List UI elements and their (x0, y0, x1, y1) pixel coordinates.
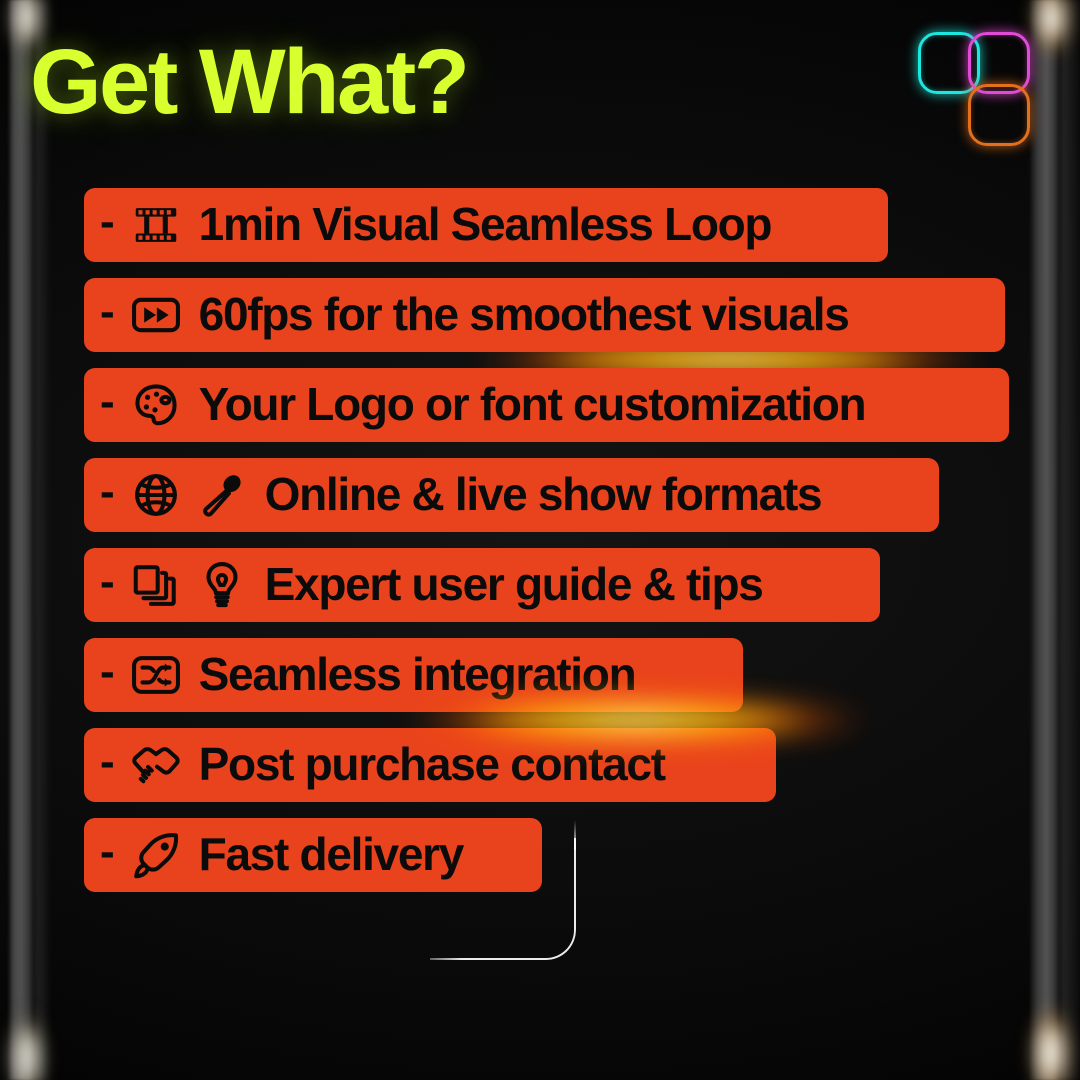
shuffle-icon (129, 648, 183, 702)
list-bullet-dash: - (100, 830, 115, 874)
list-item-label: Expert user guide & tips (265, 561, 763, 607)
list-item-label: Online & live show formats (265, 471, 822, 517)
three-ring-logo (918, 32, 1050, 158)
fast-forward-icon (129, 288, 183, 342)
bottom-right-glow-blob (1030, 1005, 1072, 1080)
feature-list-item[interactable]: - Your Logo or font customization (84, 368, 1009, 442)
right-edge-band (1030, 0, 1060, 1080)
list-item-label: Seamless integration (199, 651, 636, 697)
list-item-icons (129, 828, 183, 882)
lightbulb-icon (195, 558, 249, 612)
list-item-label: Post purchase contact (199, 741, 665, 787)
right-edge-band-inner (1060, 0, 1080, 1080)
list-item-icons (129, 198, 183, 252)
list-bullet-dash: - (100, 290, 115, 334)
list-bullet-dash: - (100, 560, 115, 604)
feature-list-item[interactable]: - 60fps for the smoothest visuals (84, 278, 1005, 352)
feature-list-item[interactable]: - Online & live show formats (84, 458, 939, 532)
list-item-icons (129, 558, 249, 612)
ring-orange-icon (968, 84, 1030, 146)
rocket-icon (129, 828, 183, 882)
bottom-left-glow-blob (8, 1010, 46, 1080)
feature-list-item[interactable]: - Fast delivery (84, 818, 542, 892)
list-item-icons (129, 648, 183, 702)
list-item-label: Fast delivery (199, 831, 463, 877)
list-item-label: 60fps for the smoothest visuals (199, 291, 849, 337)
microphone-icon (195, 468, 249, 522)
film-frames-icon (129, 198, 183, 252)
feature-list-item[interactable]: - 1min Visual Seamless Loop (84, 188, 888, 262)
list-item-icons (129, 378, 183, 432)
feature-list-item[interactable]: - Expert user guide & tips (84, 548, 880, 622)
list-bullet-dash: - (100, 380, 115, 424)
cards-stack-icon (129, 558, 183, 612)
list-item-icons (129, 288, 183, 342)
list-bullet-dash: - (100, 470, 115, 514)
globe-icon (129, 468, 183, 522)
list-bullet-dash: - (100, 740, 115, 784)
list-bullet-dash: - (100, 650, 115, 694)
handshake-icon (129, 738, 183, 792)
feature-list: - 1min Visual Seamless Loop- 60fps for t… (84, 188, 1009, 908)
list-item-label: Your Logo or font customization (199, 381, 866, 427)
list-item-icons (129, 468, 249, 522)
poster-canvas: Get What? - 1min Visual Seamless Loop- 6… (0, 0, 1080, 1080)
list-bullet-dash: - (100, 200, 115, 244)
list-item-label: 1min Visual Seamless Loop (199, 201, 772, 247)
feature-list-item[interactable]: - Post purchase contact (84, 728, 776, 802)
list-item-icons (129, 738, 183, 792)
page-title: Get What? (30, 36, 467, 128)
left-edge-band (8, 0, 34, 1080)
left-edge-band-inner (34, 0, 48, 1080)
feature-list-item[interactable]: - Seamless integration (84, 638, 743, 712)
palette-icon (129, 378, 183, 432)
